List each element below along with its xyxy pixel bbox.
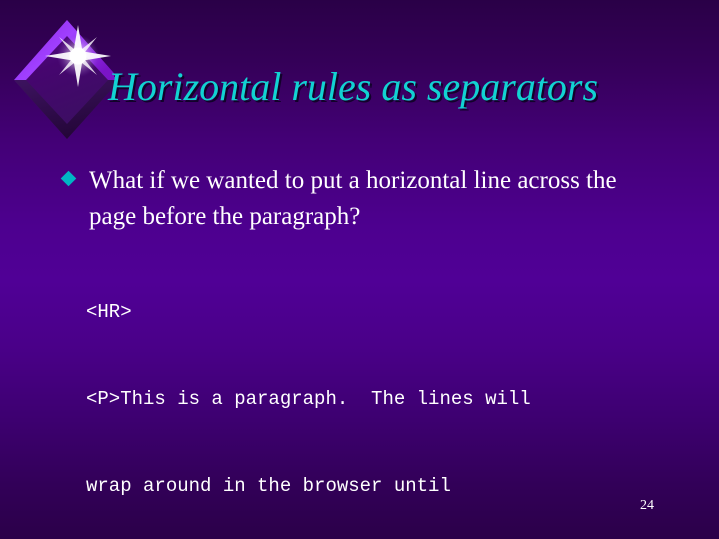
slide-body: What if we wanted to put a horizontal li…	[60, 163, 700, 235]
logo-diamond-body	[14, 20, 120, 139]
code-line: <HR>	[86, 298, 686, 327]
diamond-bullet-icon	[61, 171, 77, 187]
bullet-text: What if we wanted to put a horizontal li…	[89, 163, 654, 235]
slide-title: Horizontal rules as separators	[108, 63, 708, 123]
page-number: 24	[640, 498, 680, 514]
code-line: wrap around in the browser until	[86, 472, 686, 501]
code-line: <P>This is a paragraph. The lines will	[86, 385, 686, 414]
code-sample: <HR> <P>This is a paragraph. The lines w…	[86, 240, 686, 539]
presentation-slide: Horizontal rules as separators What if w…	[0, 0, 719, 539]
list-item: What if we wanted to put a horizontal li…	[60, 163, 700, 235]
